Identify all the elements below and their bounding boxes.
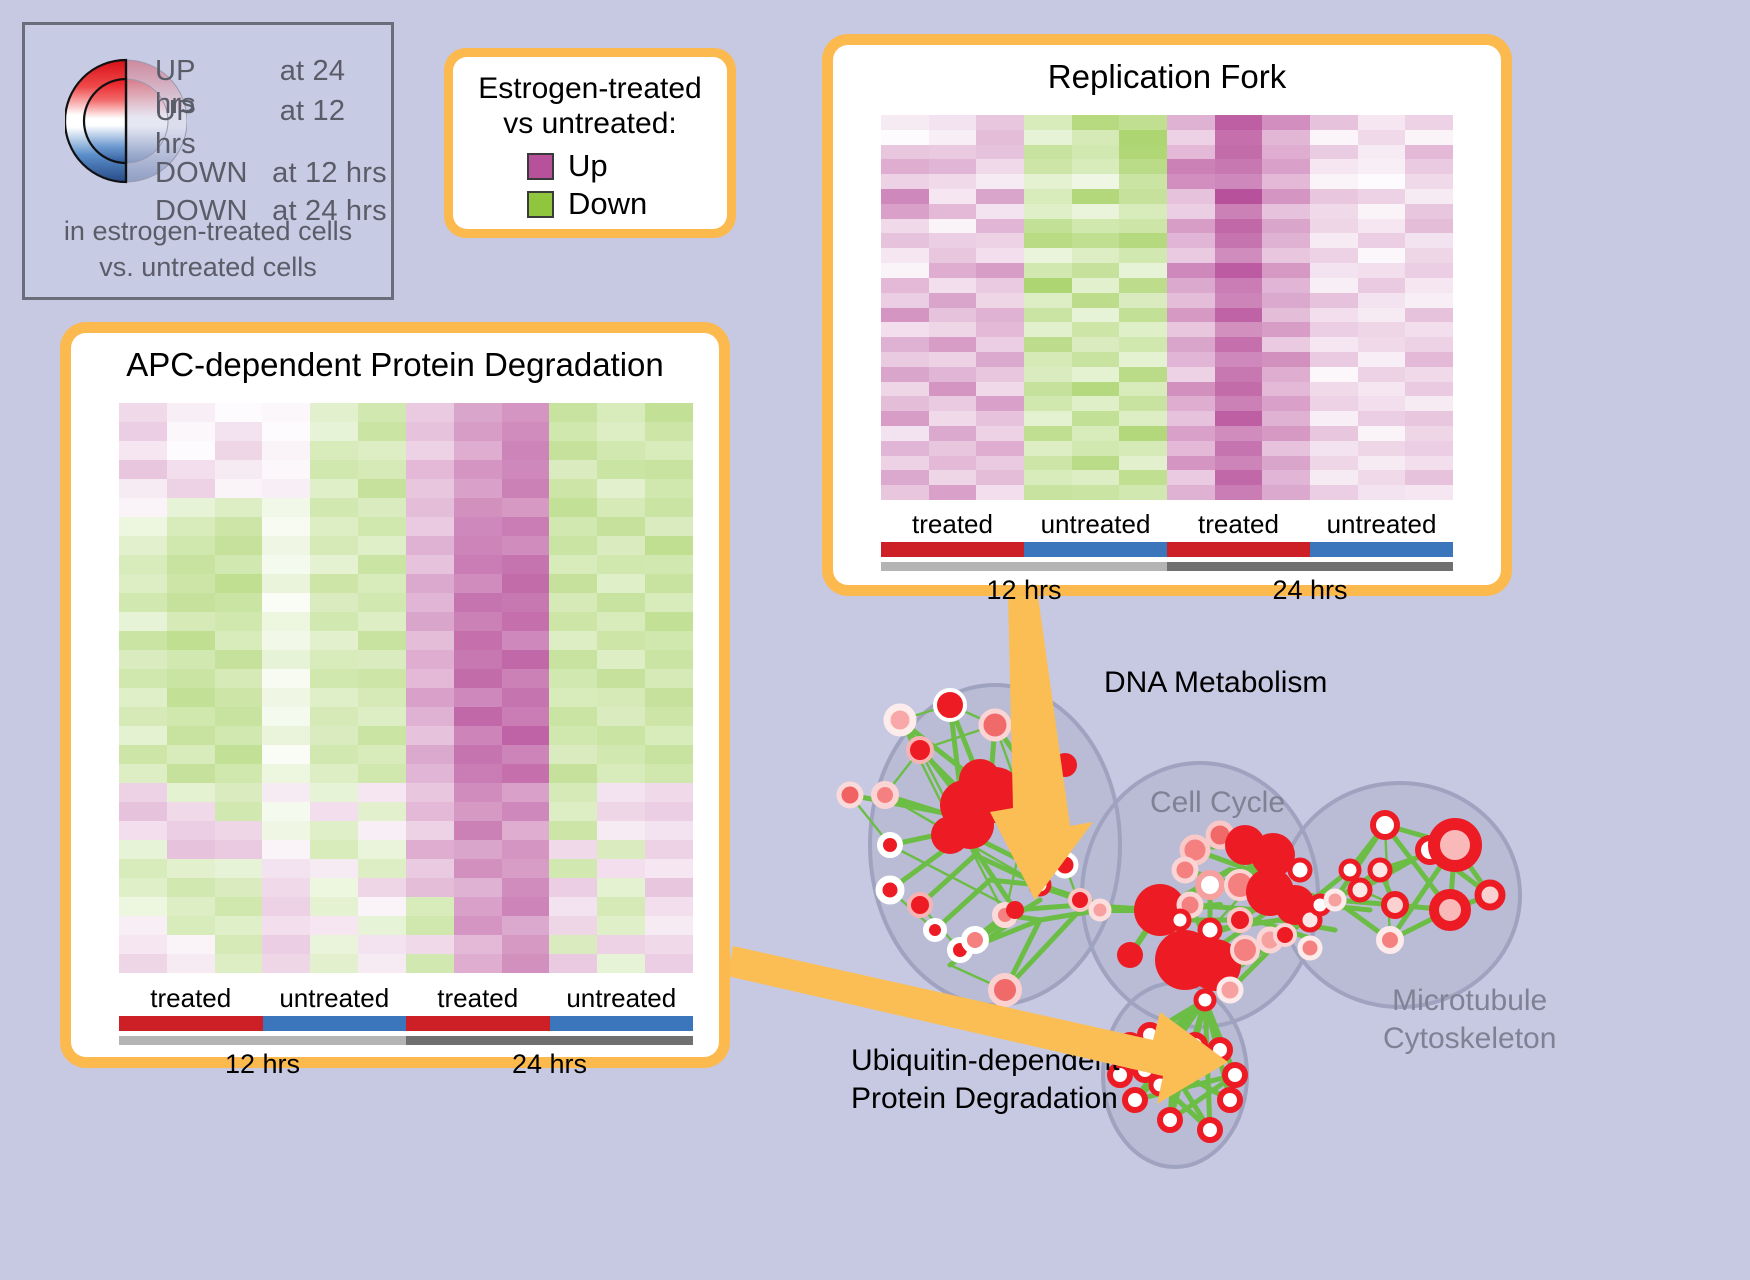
heatmap-cell (1072, 337, 1120, 352)
heatmap-cell (502, 612, 550, 631)
heatmap-cell (549, 479, 597, 498)
heatmap-cell (976, 233, 1024, 248)
heatmap-cell (502, 650, 550, 669)
heatmap-cell (1119, 219, 1167, 234)
heatmap-cell (1405, 485, 1453, 500)
heatmap-cell (881, 396, 929, 411)
heatmap-cell (929, 145, 977, 160)
heatmap-cell (976, 115, 1024, 130)
heatmap-cell (1358, 145, 1406, 160)
heatmap-cell (454, 517, 502, 536)
heatmap-cell (406, 650, 454, 669)
heatmap-cell (597, 688, 645, 707)
heatmap-cell (167, 593, 215, 612)
heatmap-cell (406, 897, 454, 916)
heatmap-cell (597, 498, 645, 517)
updown-legend-card: Estrogen-treated vs untreated: Up Down (444, 48, 736, 238)
heatmap-cell (1072, 248, 1120, 263)
heatmap-cell (645, 954, 693, 973)
heatmap-cell (406, 859, 454, 878)
heatmap-cell (597, 612, 645, 631)
heatmap-cell (1405, 308, 1453, 323)
heatmap-cell (597, 574, 645, 593)
heatmap-cell (1215, 233, 1263, 248)
heatmap-cell (976, 248, 1024, 263)
heatmap-cell (1215, 441, 1263, 456)
heatmap-cell (976, 322, 1024, 337)
heatmap-cell (1262, 219, 1310, 234)
heatmap-cell (119, 631, 167, 650)
heatmap-cell (881, 411, 929, 426)
panel-replication-fork: Replication Fork treateduntreatedtreated… (822, 34, 1512, 596)
heatmap-cell (502, 935, 550, 954)
heatmap-cell (597, 555, 645, 574)
heatmap-cell (1024, 278, 1072, 293)
heatmap-cell (167, 517, 215, 536)
heatmap-cell (645, 783, 693, 802)
heatmap-cell (167, 783, 215, 802)
heatmap-cell (406, 422, 454, 441)
heatmap-cell (167, 441, 215, 460)
heatmap-cell (502, 897, 550, 916)
heatmap-cell (406, 498, 454, 517)
heatmap-cell (215, 935, 263, 954)
heatmap-cell (1119, 456, 1167, 471)
heatmap-cell (406, 802, 454, 821)
heatmap-cell (310, 726, 358, 745)
heatmap-cell (262, 840, 310, 859)
heatmap-cell (976, 411, 1024, 426)
heatmap-cell (310, 460, 358, 479)
heatmap-cell (167, 935, 215, 954)
heatmap-cell (929, 159, 977, 174)
heatmap-cell (310, 859, 358, 878)
heatmap-cell (929, 456, 977, 471)
heatmap-cell (502, 479, 550, 498)
heatmap-cell (1167, 293, 1215, 308)
heatmap-cell (1072, 456, 1120, 471)
heatmap-cell (1358, 115, 1406, 130)
heatmap-cell (215, 954, 263, 973)
heatmap-cell (454, 859, 502, 878)
heatmap-cell (1119, 308, 1167, 323)
heatmap-cell (929, 322, 977, 337)
heatmap-cell (1119, 130, 1167, 145)
heatmap-cell (1119, 233, 1167, 248)
heatmap-cell (1024, 174, 1072, 189)
heatmap-cell (502, 707, 550, 726)
heatmap-cell (1405, 278, 1453, 293)
heatmap-cell (167, 707, 215, 726)
heatmap-cell (262, 441, 310, 460)
heatmap-cell (1358, 337, 1406, 352)
heatmap-cell (215, 441, 263, 460)
heatmap-cell (215, 536, 263, 555)
heatmap-cell (597, 479, 645, 498)
heatmap-cell (406, 726, 454, 745)
heatmap-cell (262, 422, 310, 441)
heatmap-cell (406, 441, 454, 460)
heatmap-cell (597, 783, 645, 802)
heatmap-cell (262, 802, 310, 821)
heatmap-cell (1405, 367, 1453, 382)
heatmap-cell (1262, 278, 1310, 293)
heatmap-cell (929, 485, 977, 500)
heatmap-cell (1215, 115, 1263, 130)
heatmap-cell (1119, 248, 1167, 263)
heatmap-cell (929, 248, 977, 263)
heatmap-cell (549, 441, 597, 460)
heatmap-cell (1405, 470, 1453, 485)
heatmap-cell (597, 859, 645, 878)
heatmap-cell (929, 263, 977, 278)
heatmap-cell (1119, 278, 1167, 293)
heatmap-cell (929, 278, 977, 293)
heatmap-cell (881, 130, 929, 145)
replication-time-labels: 12 hrs24 hrs (881, 575, 1453, 606)
heatmap-cell (1310, 130, 1358, 145)
heatmap-cell (1024, 115, 1072, 130)
heatmap-cell (502, 859, 550, 878)
heatmap-cell (645, 821, 693, 840)
heatmap-cell (597, 802, 645, 821)
heatmap-cell (1262, 159, 1310, 174)
heatmap-cell (597, 745, 645, 764)
heatmap-cell (215, 498, 263, 517)
heatmap-cell (1072, 233, 1120, 248)
heatmap-cell (1024, 470, 1072, 485)
heatmap-cell (549, 688, 597, 707)
heatmap-cell (358, 612, 406, 631)
heatmap-cell (1167, 337, 1215, 352)
heatmap-cell (1024, 308, 1072, 323)
color-key-note-line1: in estrogen-treated cells (25, 213, 391, 249)
heatmap-cell (310, 878, 358, 897)
heatmap-cell (976, 145, 1024, 160)
heatmap-cell (1024, 130, 1072, 145)
heatmap-cell (502, 517, 550, 536)
heatmap-cell (1405, 159, 1453, 174)
heatmap-cell (1310, 470, 1358, 485)
heatmap-cell (502, 726, 550, 745)
heatmap-cell (406, 916, 454, 935)
group-label: treated (1167, 509, 1310, 540)
heatmap-cell (881, 470, 929, 485)
heatmap-cell (262, 916, 310, 935)
heatmap-cell (502, 764, 550, 783)
heatmap-cell (310, 802, 358, 821)
heatmap-cell (262, 460, 310, 479)
heatmap-cell (1167, 485, 1215, 500)
heatmap-cell (1119, 367, 1167, 382)
heatmap-cell (1167, 233, 1215, 248)
heatmap-cell (1119, 426, 1167, 441)
panel-apc-dependent-inner: APC-dependent Protein Degradation treate… (71, 333, 719, 1057)
heatmap-cell (262, 897, 310, 916)
heatmap-cell (929, 426, 977, 441)
heatmap-cell (1215, 189, 1263, 204)
key-row-1: UP at 12 hrs (155, 95, 391, 161)
heatmap-cell (406, 574, 454, 593)
heatmap-cell (976, 382, 1024, 397)
key-time-2: at 12 hrs (272, 157, 387, 189)
heatmap-cell (1215, 367, 1263, 382)
heatmap-cell (929, 174, 977, 189)
heatmap-cell (549, 403, 597, 422)
apc-time-bars (119, 1036, 693, 1045)
up-swatch-icon (527, 153, 554, 180)
heatmap-cell (454, 631, 502, 650)
heatmap-cell (1024, 145, 1072, 160)
heatmap-cell (406, 479, 454, 498)
heatmap-cell (597, 517, 645, 536)
heatmap-cell (645, 745, 693, 764)
heatmap-cell (1215, 382, 1263, 397)
heatmap-cell (645, 726, 693, 745)
heatmap-cell (167, 840, 215, 859)
network-diagram (790, 620, 1750, 1280)
heatmap-cell (645, 479, 693, 498)
heatmap-cell (454, 916, 502, 935)
heatmap-cell (406, 878, 454, 897)
heatmap-cell (358, 555, 406, 574)
heatmap-cell (119, 479, 167, 498)
heatmap-cell (1405, 219, 1453, 234)
heatmap-cell (549, 555, 597, 574)
heatmap-cell (1358, 189, 1406, 204)
heatmap-cell (406, 536, 454, 555)
heatmap-cell (1405, 322, 1453, 337)
heatmap-cell (1358, 441, 1406, 456)
heatmap-cell (1310, 248, 1358, 263)
heatmap-cell (1262, 115, 1310, 130)
heatmap-cell (881, 159, 929, 174)
legend-entries: Up Down (469, 147, 711, 223)
heatmap-cell (1119, 352, 1167, 367)
heatmap-cell (119, 536, 167, 555)
heatmap-cell (358, 954, 406, 973)
heatmap-cell (1358, 411, 1406, 426)
heatmap-cell (167, 954, 215, 973)
heatmap-cell (1358, 248, 1406, 263)
heatmap-cell (881, 456, 929, 471)
heatmap-cell (1310, 145, 1358, 160)
heatmap-cell (1167, 396, 1215, 411)
heatmap-cell (310, 745, 358, 764)
heatmap-cell (1167, 204, 1215, 219)
heatmap-cell (549, 726, 597, 745)
heatmap-cell (1405, 426, 1453, 441)
heatmap-cell (1310, 308, 1358, 323)
updown-legend-inner: Estrogen-treated vs untreated: Up Down (453, 57, 727, 229)
heatmap-apc-dependent (119, 403, 693, 973)
heatmap-cell (406, 669, 454, 688)
heatmap-cell (1072, 278, 1120, 293)
heatmap-cell (1262, 470, 1310, 485)
heatmap-cell (1310, 159, 1358, 174)
heatmap-cell (1215, 219, 1263, 234)
heatmap-cell (262, 574, 310, 593)
heatmap-cell (881, 115, 929, 130)
heatmap-cell (1119, 159, 1167, 174)
heatmap-cell (454, 441, 502, 460)
heatmap-cell (502, 536, 550, 555)
heatmap-cell (1072, 441, 1120, 456)
heatmap-cell (1262, 263, 1310, 278)
heatmap-cell (310, 764, 358, 783)
heatmap-cell (1215, 145, 1263, 160)
heatmap-cell (1262, 485, 1310, 500)
heatmap-cell (310, 422, 358, 441)
heatmap-cell (1358, 174, 1406, 189)
heatmap-cell (1310, 322, 1358, 337)
heatmap-cell (502, 403, 550, 422)
heatmap-cell (310, 555, 358, 574)
heatmap-cell (597, 764, 645, 783)
heatmap-cell (1024, 456, 1072, 471)
heatmap-cell (597, 878, 645, 897)
heatmap-cell (1262, 204, 1310, 219)
heatmap-cell (597, 422, 645, 441)
heatmap-cell (1167, 189, 1215, 204)
heatmap-cell (1310, 263, 1358, 278)
heatmap-cell (1310, 278, 1358, 293)
heatmap-cell (358, 935, 406, 954)
heatmap-cell (167, 536, 215, 555)
heatmap-cell (1167, 159, 1215, 174)
heatmap-cell (645, 536, 693, 555)
heatmap-cell (454, 764, 502, 783)
heatmap-cell (1119, 396, 1167, 411)
group-label: treated (406, 983, 550, 1014)
heatmap-cell (1024, 248, 1072, 263)
heatmap-cell (119, 460, 167, 479)
heatmap-cell (645, 840, 693, 859)
heatmap-cell (502, 916, 550, 935)
heatmap-cell (358, 688, 406, 707)
heatmap-cell (881, 308, 929, 323)
heatmap-cell (1072, 174, 1120, 189)
heatmap-cell (167, 631, 215, 650)
panel-replication-fork-inner: Replication Fork treateduntreatedtreated… (833, 45, 1501, 585)
heatmap-cell (549, 612, 597, 631)
heatmap-cell (976, 470, 1024, 485)
heatmap-cell (262, 783, 310, 802)
heatmap-cell (454, 555, 502, 574)
heatmap-cell (1215, 426, 1263, 441)
heatmap-cell (549, 650, 597, 669)
heatmap-cell (1405, 233, 1453, 248)
panel-title-apc-dependent: APC-dependent Protein Degradation (71, 333, 719, 384)
heatmap-cell (1072, 308, 1120, 323)
heatmap-cell (358, 821, 406, 840)
heatmap-cell (597, 821, 645, 840)
heatmap-cell (167, 498, 215, 517)
heatmap-cell (881, 145, 929, 160)
heatmap-cell (262, 631, 310, 650)
heatmap-cell (215, 859, 263, 878)
heatmap-cell (406, 612, 454, 631)
time-bar (406, 1036, 693, 1045)
cluster-label-cell-cycle: Cell Cycle (1150, 784, 1285, 822)
heatmap-cell (406, 555, 454, 574)
heatmap-cell (881, 352, 929, 367)
heatmap-cell (597, 536, 645, 555)
heatmap-cell (406, 783, 454, 802)
heatmap-cell (645, 498, 693, 517)
heatmap-cell (406, 631, 454, 650)
heatmap-cell (645, 878, 693, 897)
heatmap-cell (976, 396, 1024, 411)
heatmap-cell (358, 593, 406, 612)
heatmap-cell (976, 456, 1024, 471)
heatmap-cell (549, 935, 597, 954)
group-label: untreated (1024, 509, 1167, 540)
heatmap-cell (976, 308, 1024, 323)
heatmap-cell (167, 612, 215, 631)
cluster-label-microtubule-line1: Microtubule (1383, 982, 1556, 1020)
cluster-label-microtubule-cytoskeleton: Microtubule Cytoskeleton (1383, 982, 1556, 1058)
heatmap-cell (502, 631, 550, 650)
heatmap-cell (881, 441, 929, 456)
heatmap-cell (1310, 367, 1358, 382)
heatmap-cell (262, 650, 310, 669)
heatmap-cell (215, 574, 263, 593)
heatmap-cell (502, 498, 550, 517)
heatmap-cell (1358, 159, 1406, 174)
heatmap-cell (929, 115, 977, 130)
heatmap-cell (310, 593, 358, 612)
heatmap-cell (1358, 204, 1406, 219)
heatmap-cell (1167, 115, 1215, 130)
heatmap-cell (1215, 293, 1263, 308)
heatmap-cell (358, 650, 406, 669)
heatmap-cell (1167, 278, 1215, 293)
heatmap-cell (881, 263, 929, 278)
heatmap-cell (215, 707, 263, 726)
heatmap-cell (215, 593, 263, 612)
heatmap-cell (1358, 470, 1406, 485)
heatmap-cell (1405, 204, 1453, 219)
heatmap-cell (358, 726, 406, 745)
group-bar (1167, 542, 1310, 557)
heatmap-cell (1072, 263, 1120, 278)
down-swatch-icon (527, 191, 554, 218)
heatmap-cell (502, 783, 550, 802)
heatmap-cell (167, 726, 215, 745)
heatmap-cell (406, 954, 454, 973)
heatmap-cell (549, 764, 597, 783)
heatmap-cell (167, 460, 215, 479)
heatmap-cell (549, 707, 597, 726)
heatmap-cell (310, 916, 358, 935)
heatmap-cell (929, 382, 977, 397)
heatmap-cell (167, 574, 215, 593)
heatmap-cell (929, 352, 977, 367)
heatmap-cell (310, 517, 358, 536)
apc-group-labels: treateduntreatedtreateduntreated (119, 983, 693, 1014)
cluster-label-microtubule-line2: Cytoskeleton (1383, 1020, 1556, 1058)
heatmap-cell (1072, 219, 1120, 234)
heatmap-cell (1072, 485, 1120, 500)
heatmap-cell (929, 396, 977, 411)
heatmap-cell (1310, 293, 1358, 308)
heatmap-cell (215, 878, 263, 897)
heatmap-cell (645, 403, 693, 422)
heatmap-cell (976, 219, 1024, 234)
heatmap-cell (310, 441, 358, 460)
heatmap-cell (119, 555, 167, 574)
